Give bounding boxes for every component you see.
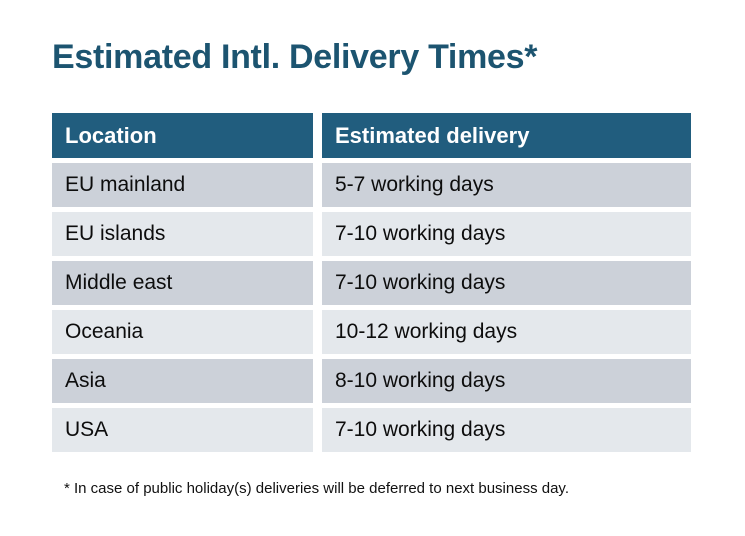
column-header-estimated-delivery: Estimated delivery	[322, 113, 691, 158]
cell-delivery: 5-7 working days	[322, 163, 691, 207]
delivery-times-page: Estimated Intl. Delivery Times* Location…	[0, 0, 745, 536]
table-row: EU islands 7-10 working days	[52, 212, 691, 256]
cell-location: Middle east	[52, 261, 313, 305]
table-row: Middle east 7-10 working days	[52, 261, 691, 305]
table-row: Oceania 10-12 working days	[52, 310, 691, 354]
column-divider	[313, 310, 322, 354]
cell-delivery: 7-10 working days	[322, 408, 691, 452]
table-row: EU mainland 5-7 working days	[52, 163, 691, 207]
delivery-times-table: Location Estimated delivery EU mainland …	[52, 113, 691, 457]
cell-delivery: 7-10 working days	[322, 212, 691, 256]
cell-location: EU islands	[52, 212, 313, 256]
table-row: Asia 8-10 working days	[52, 359, 691, 403]
column-divider	[313, 359, 322, 403]
column-divider	[313, 163, 322, 207]
cell-location: USA	[52, 408, 313, 452]
column-divider	[313, 212, 322, 256]
column-header-location: Location	[52, 113, 313, 158]
cell-location: EU mainland	[52, 163, 313, 207]
footnote-text: * In case of public holiday(s) deliverie…	[64, 480, 569, 497]
cell-location: Asia	[52, 359, 313, 403]
column-divider	[313, 408, 322, 452]
page-title: Estimated Intl. Delivery Times*	[52, 36, 537, 78]
column-divider	[313, 261, 322, 305]
column-divider	[313, 113, 322, 157]
cell-delivery: 10-12 working days	[322, 310, 691, 354]
cell-delivery: 7-10 working days	[322, 261, 691, 305]
table-row: USA 7-10 working days	[52, 408, 691, 452]
cell-location: Oceania	[52, 310, 313, 354]
table-header-row: Location Estimated delivery	[52, 113, 691, 158]
cell-delivery: 8-10 working days	[322, 359, 691, 403]
